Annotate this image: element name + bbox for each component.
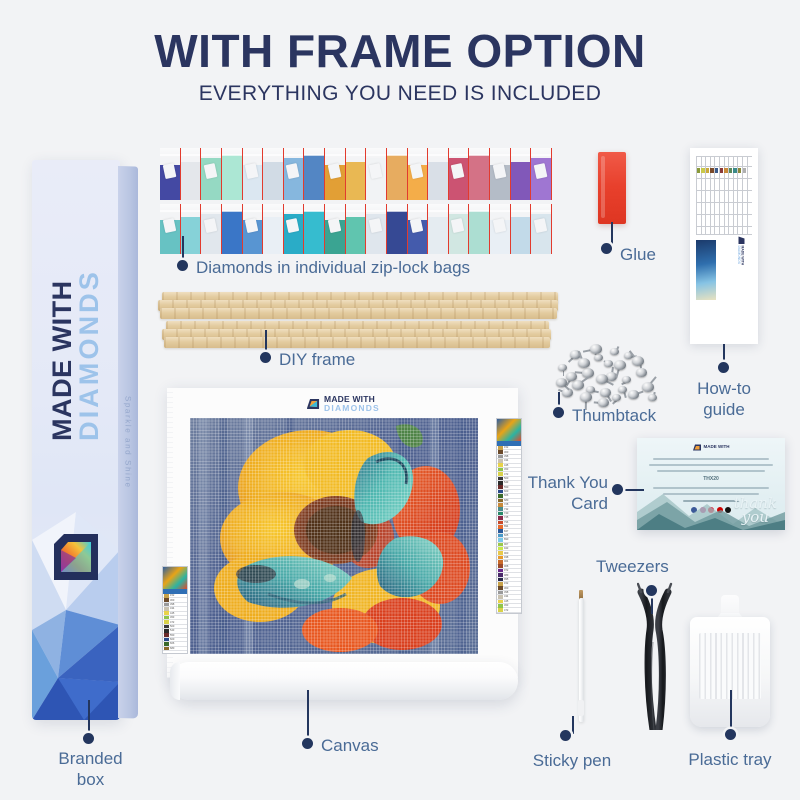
- color-swatch: [498, 600, 503, 604]
- ziplock-bag: [284, 204, 305, 254]
- callout-dot-branded-box: [83, 733, 94, 744]
- canvas-roll: [170, 662, 518, 700]
- callout-label-sticky-pen: Sticky pen: [524, 750, 620, 771]
- ziplock-bag: [449, 148, 470, 200]
- ziplock-bag: [160, 148, 181, 200]
- color-code: 894: [504, 525, 508, 528]
- color-swatch: [498, 499, 503, 503]
- color-code: 398: [504, 591, 508, 594]
- color-code: 500: [170, 625, 174, 628]
- sticky-pen: [576, 588, 586, 728]
- guide-cover-photo: [696, 240, 716, 300]
- ziplock-bag: [263, 148, 284, 200]
- color-swatch: [164, 603, 169, 607]
- ziplock-bag: [243, 148, 264, 200]
- ziplock-bag: [531, 204, 552, 254]
- bag-diamond-fill: [222, 211, 242, 254]
- bag-diamond-fill: [387, 155, 407, 200]
- ziplock-bag: [181, 148, 202, 200]
- ziplock-bag: [222, 148, 243, 200]
- thumbtack-pile: [552, 342, 682, 410]
- diy-frame: [158, 292, 558, 348]
- bag-diamond-fill: [428, 162, 448, 200]
- color-list-thumbnail: [497, 419, 521, 441]
- color-swatch: [498, 586, 503, 590]
- canvas-logo-line2: DIAMONDS: [324, 404, 380, 413]
- page-subtitle: EVERYTHING YOU NEED IS INCLUDED: [0, 82, 800, 106]
- color-swatch: [498, 463, 503, 467]
- color-code: 453: [170, 616, 174, 619]
- color-code: 943: [504, 547, 508, 550]
- bag-diamond-fill: [304, 155, 324, 200]
- color-code: 453: [504, 468, 508, 471]
- bag-zip-seal: [469, 210, 489, 212]
- callout-dot-thankyou: [612, 484, 623, 495]
- ziplock-bag: [201, 204, 222, 254]
- bag-zip-seal: [284, 210, 304, 212]
- color-swatch: [164, 616, 169, 620]
- color-swatch: [498, 534, 503, 538]
- ziplock-bag: [263, 204, 284, 254]
- svg-text:MADE WITH: MADE WITH: [741, 246, 745, 266]
- color-code: 434: [504, 595, 508, 598]
- callout-label-howto: How-to guide: [672, 378, 776, 421]
- connector-plastic-tray: [730, 690, 732, 732]
- svg-text:DIAMONDS: DIAMONDS: [737, 246, 741, 265]
- bag-zip-seal: [222, 154, 242, 156]
- callout-label-tweezers: Tweezers: [596, 556, 669, 577]
- bag-diamond-fill: [469, 155, 489, 200]
- bag-zip-seal: [531, 154, 551, 156]
- tweezers: [637, 580, 673, 730]
- bag-zip-seal: [181, 154, 201, 156]
- color-code: 300: [170, 599, 174, 602]
- callout-dot-thumbtack: [553, 407, 564, 418]
- thumbtack: [622, 376, 631, 383]
- color-swatch: [164, 633, 169, 637]
- color-swatch: [498, 560, 503, 564]
- color-code: 300: [504, 587, 508, 590]
- bag-zip-seal: [325, 154, 345, 156]
- color-code: 740: [504, 512, 508, 515]
- thumbtack: [610, 348, 619, 355]
- chart-column: [747, 156, 752, 234]
- bag-zip-seal: [201, 154, 221, 156]
- bag-zip-seal: [346, 210, 366, 212]
- bag-zip-seal: [531, 210, 551, 212]
- thumbtack: [636, 368, 647, 377]
- callout-label-thumbtack: Thumbtack: [572, 405, 656, 426]
- bag-diamond-fill: [222, 155, 242, 200]
- diamond-logo-icon: [50, 532, 102, 584]
- thumbtack: [594, 354, 603, 361]
- chart-row: [696, 156, 752, 157]
- bag-zip-seal: [428, 210, 448, 212]
- color-swatch: [498, 512, 503, 516]
- bag-zip-seal: [469, 154, 489, 156]
- thumbtack: [614, 360, 626, 370]
- bag-zip-seal: [346, 154, 366, 156]
- chart-color-swatch: [706, 168, 709, 173]
- bag-zip-seal: [387, 210, 407, 212]
- callout-label-glue: Glue: [620, 244, 656, 265]
- color-code: 680: [170, 647, 174, 650]
- color-list-row: 472: [497, 608, 521, 612]
- callout-label-canvas: Canvas: [321, 735, 379, 756]
- infographic-canvas: WITH FRAME OPTION EVERYTHING YOU NEED IS…: [0, 0, 800, 800]
- ziplock-bag: [428, 204, 449, 254]
- color-code: 398: [504, 455, 508, 458]
- bag-zip-seal: [160, 154, 180, 156]
- ziplock-bag: [284, 148, 305, 200]
- color-code: 968: [504, 565, 508, 568]
- callout-dot-canvas: [302, 738, 313, 749]
- bag-zip-seal: [366, 210, 386, 212]
- color-swatch: [164, 638, 169, 642]
- bag-zip-seal: [449, 210, 469, 212]
- callout-dot-diy-frame: [260, 352, 271, 363]
- color-code: 453: [504, 604, 508, 607]
- connector-thankyou: [622, 489, 644, 491]
- ziplock-bag: [408, 148, 429, 200]
- chart-color-swatch: [733, 168, 736, 173]
- bag-label-tag: [162, 218, 176, 233]
- box-tagline: Sparkle and Shine: [124, 396, 133, 489]
- chart-color-swatch: [724, 168, 727, 173]
- bag-zip-seal: [201, 210, 221, 212]
- color-code: 152: [170, 594, 174, 597]
- color-swatch: [498, 582, 503, 586]
- chart-color-swatch: [720, 168, 723, 173]
- color-code: 472: [504, 473, 508, 476]
- box-side-face: Sparkle and Shine: [118, 166, 138, 719]
- color-swatch: [498, 551, 503, 555]
- thumbtack: [566, 372, 577, 381]
- chart-color-swatch: [710, 168, 713, 173]
- callout-label-plastic-tray: Plastic tray: [672, 749, 788, 770]
- color-code: 745: [504, 516, 508, 519]
- color-swatch: [498, 490, 503, 494]
- callout-dot-tweezers: [646, 585, 657, 596]
- color-swatch: [498, 604, 503, 608]
- ziplock-bag: [160, 204, 181, 254]
- bag-zip-seal: [490, 210, 510, 212]
- color-swatch: [498, 529, 503, 533]
- color-code: 472: [170, 621, 174, 624]
- chart-row: [696, 226, 752, 227]
- how-to-guide: MADE WITH DIAMONDS: [690, 148, 758, 344]
- bag-diamond-fill: [511, 217, 531, 254]
- color-swatch: [164, 642, 169, 646]
- card-thankyou-script: thank you: [734, 496, 777, 525]
- frame-slat: [160, 308, 557, 319]
- color-code: 152: [504, 582, 508, 585]
- ziplock-bag: [243, 204, 264, 254]
- color-code: 434: [504, 459, 508, 462]
- ziplock-bag: [201, 148, 222, 200]
- box-brand-line1: MADE WITH: [49, 269, 76, 441]
- color-list-row: 680: [163, 647, 187, 651]
- color-code: 500: [504, 477, 508, 480]
- bag-zip-seal: [304, 210, 324, 212]
- ziplock-bag: [387, 148, 408, 200]
- color-code: 890: [504, 538, 508, 541]
- bag-label-tag: [492, 218, 506, 233]
- color-code: 472: [504, 609, 508, 612]
- bag-diamond-fill: [469, 211, 489, 254]
- bag-zip-seal: [304, 154, 324, 156]
- thumbtack: [600, 388, 611, 397]
- color-code: 680: [504, 499, 508, 502]
- ziplock-bag: [490, 148, 511, 200]
- color-swatch: [498, 459, 503, 463]
- artwork-diamond-grid: [190, 418, 478, 654]
- color-code: 543: [170, 629, 174, 632]
- thumbtack: [632, 356, 644, 366]
- bag-diamond-fill: [346, 162, 366, 200]
- bag-zip-seal: [387, 154, 407, 156]
- bag-zip-seal: [284, 154, 304, 156]
- color-swatch: [498, 455, 503, 459]
- bag-zip-seal: [181, 210, 201, 212]
- color-list-left: 152300398434445453472500543550600666680: [162, 566, 188, 654]
- bag-zip-seal: [366, 154, 386, 156]
- bag-label-tag: [327, 218, 341, 233]
- guide-logo-icon: MADE WITH DIAMONDS: [732, 236, 750, 266]
- chart-color-swatch: [729, 168, 732, 173]
- color-swatch: [164, 607, 169, 611]
- color-swatch: [498, 578, 503, 582]
- callout-label-thankyou: Thank You Card: [516, 472, 608, 515]
- ziplock-bag: [325, 148, 346, 200]
- thumbtack: [618, 386, 627, 393]
- thumbtack: [556, 378, 567, 387]
- color-swatch: [498, 521, 503, 525]
- bag-zip-seal: [511, 154, 531, 156]
- ziplock-bag: [469, 148, 490, 200]
- color-code: 732: [504, 508, 508, 511]
- callout-dot-plastic-tray: [725, 729, 736, 740]
- color-list-right: 1523003984344454534725005435506006666807…: [496, 418, 522, 614]
- color-swatch: [498, 543, 503, 547]
- thumbtack: [590, 344, 602, 354]
- color-code: 398: [170, 603, 174, 606]
- ziplock-bag-row-top: [160, 148, 552, 200]
- chart-row: [696, 178, 752, 179]
- ziplock-bag-row-bottom: [160, 204, 552, 254]
- ziplock-bag: [511, 204, 532, 254]
- color-swatch: [164, 620, 169, 624]
- bag-diamond-fill: [387, 211, 407, 254]
- color-swatch: [164, 594, 169, 598]
- color-code: 900: [504, 552, 508, 555]
- color-swatch: [498, 525, 503, 529]
- chart-color-swatch: [738, 168, 741, 173]
- color-code: 445: [504, 600, 508, 603]
- color-code: 600: [504, 490, 508, 493]
- connector-sticky-pen: [572, 716, 574, 734]
- bag-zip-seal: [263, 154, 283, 156]
- ziplock-bag: [428, 148, 449, 200]
- card-text-line: [653, 458, 769, 460]
- color-swatch: [164, 625, 169, 629]
- color-swatch: [498, 573, 503, 577]
- ziplock-bag: [181, 204, 202, 254]
- color-list-thumbnail: [163, 567, 187, 589]
- color-code: 152: [504, 446, 508, 449]
- bag-diamond-fill: [511, 162, 531, 200]
- thumbtack: [628, 390, 639, 399]
- canvas-logo: MADE WITH DIAMONDS: [306, 395, 380, 413]
- color-swatch: [498, 472, 503, 476]
- glue-bottle: [598, 152, 626, 224]
- color-code: 989: [504, 574, 508, 577]
- color-code: 907: [504, 543, 508, 546]
- color-code: 300: [504, 451, 508, 454]
- ziplock-bag: [325, 204, 346, 254]
- color-code: 847: [504, 530, 508, 533]
- color-code: 728: [504, 503, 508, 506]
- branded-box: MADE WITH DIAMONDS Sparkle and Shine: [32, 160, 138, 720]
- thumbtack: [612, 394, 621, 401]
- color-swatch: [498, 595, 503, 599]
- card-logo: MADE WITH: [693, 443, 730, 452]
- ziplock-bag: [531, 148, 552, 200]
- bag-diamond-fill: [428, 217, 448, 254]
- bag-zip-seal: [490, 154, 510, 156]
- ziplock-bag: [449, 204, 470, 254]
- color-code: 550: [504, 486, 508, 489]
- callout-dot-diamonds: [177, 260, 188, 271]
- bag-label-tag: [492, 163, 506, 179]
- color-swatch: [164, 647, 169, 651]
- color-code: 964: [504, 560, 508, 563]
- ziplock-bag: [511, 148, 532, 200]
- color-swatch: [498, 564, 503, 568]
- color-swatch: [498, 547, 503, 551]
- chart-color-swatch: [697, 168, 700, 173]
- ziplock-bag: [304, 204, 325, 254]
- bag-diamond-fill: [263, 162, 283, 200]
- chart-color-swatch: [715, 168, 718, 173]
- bag-zip-seal: [408, 154, 428, 156]
- page-title: WITH FRAME OPTION: [0, 24, 800, 78]
- bag-zip-seal: [428, 154, 448, 156]
- bag-zip-seal: [243, 154, 263, 156]
- color-swatch: [164, 611, 169, 615]
- bag-zip-seal: [263, 210, 283, 212]
- box-front-face: MADE WITH DIAMONDS: [32, 160, 120, 720]
- ziplock-bag: [366, 148, 387, 200]
- box-brand-line2: DIAMONDS: [76, 269, 103, 441]
- guide-color-chart: [696, 156, 752, 234]
- thumbtack: [580, 392, 592, 402]
- color-code: 825: [504, 534, 508, 537]
- color-code: 796: [504, 521, 508, 524]
- frame-slat: [164, 337, 550, 348]
- bag-zip-seal: [449, 154, 469, 156]
- thumbtack: [558, 364, 567, 371]
- color-code: 666: [170, 642, 174, 645]
- color-swatch: [498, 503, 503, 507]
- color-code: 600: [170, 638, 174, 641]
- canvas-sheet: MADE WITH DIAMONDS: [168, 388, 518, 678]
- diamond-logo-icon: [306, 397, 320, 411]
- bag-diamond-fill: [263, 217, 283, 254]
- ziplock-bag: [346, 148, 367, 200]
- color-swatch: [498, 538, 503, 542]
- ziplock-bag: [408, 204, 429, 254]
- callout-dot-howto: [718, 362, 729, 373]
- color-swatch: [498, 516, 503, 520]
- bag-diamond-fill: [346, 217, 366, 254]
- bag-label-tag: [162, 163, 176, 179]
- chart-color-swatch: [701, 168, 704, 173]
- bag-diamond-fill: [181, 162, 201, 200]
- bag-zip-seal: [511, 210, 531, 212]
- thumbtack: [572, 380, 584, 390]
- color-code: 972: [504, 569, 508, 572]
- ziplock-bag: [346, 204, 367, 254]
- bag-zip-seal: [243, 210, 263, 212]
- color-swatch: [164, 598, 169, 602]
- chart-row: [696, 234, 752, 235]
- card-text-line: [657, 470, 765, 472]
- bag-diamond-fill: [304, 211, 324, 254]
- chart-color-swatch: [743, 168, 746, 173]
- ziplock-bag: [469, 204, 490, 254]
- color-swatch: [164, 629, 169, 633]
- ziplock-bag: [222, 204, 243, 254]
- color-swatch: [498, 446, 503, 450]
- bag-zip-seal: [325, 210, 345, 212]
- ziplock-bag: [366, 204, 387, 254]
- thumbtack: [648, 394, 657, 401]
- color-code: 666: [504, 494, 508, 497]
- box-brand-text: MADE WITH DIAMONDS: [49, 269, 103, 441]
- color-code: 445: [504, 464, 508, 467]
- ziplock-bag: [490, 204, 511, 254]
- color-swatch: [498, 485, 503, 489]
- canvas-artwork: [190, 418, 478, 654]
- thumbtack: [642, 382, 654, 392]
- color-swatch: [498, 569, 503, 573]
- ziplock-bag: [387, 204, 408, 254]
- card-logo-text: MADE WITH: [704, 445, 730, 450]
- chart-row: [696, 166, 752, 167]
- callout-dot-sticky-pen: [560, 730, 571, 741]
- color-swatch: [498, 494, 503, 498]
- color-swatch: [498, 450, 503, 454]
- color-swatch: [498, 507, 503, 511]
- ziplock-bag: [304, 148, 325, 200]
- pen-grip: [578, 700, 584, 716]
- color-swatch: [498, 556, 503, 560]
- bag-zip-seal: [408, 210, 428, 212]
- color-code: 938: [504, 556, 508, 559]
- color-swatch: [498, 468, 503, 472]
- bag-zip-seal: [160, 210, 180, 212]
- callout-dot-glue: [601, 243, 612, 254]
- chart-row: [696, 190, 752, 191]
- thumbtack: [578, 358, 590, 368]
- callout-label-diamonds: Diamonds in individual zip-lock bags: [196, 257, 470, 278]
- color-swatch: [498, 477, 503, 481]
- chart-row: [696, 202, 752, 203]
- color-code: 445: [170, 612, 174, 615]
- color-swatch: [498, 591, 503, 595]
- color-code: 543: [504, 481, 508, 484]
